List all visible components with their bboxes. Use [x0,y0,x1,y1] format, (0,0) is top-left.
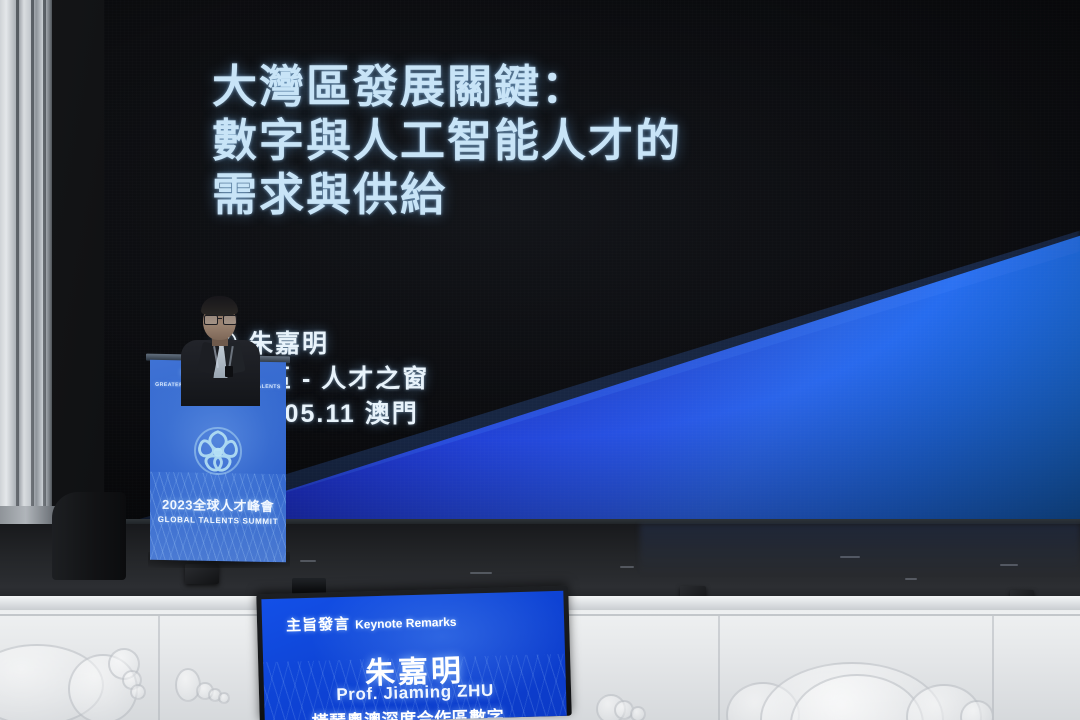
architectural-pilaster [0,0,52,516]
podium-footer: 2023全球人才峰會 GLOBAL TALENTS SUMMIT [150,494,286,527]
speaker-hair [201,296,238,316]
floor-highlight [300,560,316,562]
talents-summit-knot-icon [186,418,250,483]
monitor-screen: 主旨發言Keynote Remarks 朱嘉明 Prof. Jiaming ZH… [261,591,566,720]
wall-panel-divider [158,616,160,720]
podium-footer-cn: 2023全球人才峰會 [150,494,286,516]
wall-panel-divider [992,616,994,720]
floor-highlight [905,578,917,580]
slide-title-line-3: 需求與供給 [212,169,447,220]
eyeglass-lens-left [204,315,218,325]
eyeglass-lens-right [223,315,237,325]
slide-title-line-2: 數字與人工智能人才的 [212,115,682,166]
conference-stage-photo: 大灣區發展關鍵： 數字與人工智能人才的 需求與供給 Ⓒ 朱嘉明 大灣區 - 人才… [0,0,1080,720]
pilaster-groove [16,0,19,516]
wall-relief-circle [130,684,146,700]
eyeglasses-icon [204,315,235,323]
floor-highlight [840,556,860,558]
wall-relief-circle [630,706,646,720]
speaker-badge [225,366,233,377]
floor-blue-reflection [640,524,1080,576]
slide-title-line-1: 大灣區發展關鍵： [212,61,588,112]
slide-title: 大灣區發展關鍵： 數字與人工智能人才的 需求與供給 [212,60,682,222]
floor-highlight [620,566,634,568]
stage-equipment-silhouette [52,492,126,580]
wall-panel-divider [718,616,720,720]
pilaster-groove [31,0,34,516]
floor-highlight [1000,564,1018,566]
wall-relief-circle [960,700,994,720]
eyeglass-bridge [217,318,222,319]
monitor-session-en: Keynote Remarks [355,615,457,632]
floor-highlight [470,572,492,574]
confidence-monitor: 主旨發言Keynote Remarks 朱嘉明 Prof. Jiaming ZH… [256,586,572,720]
pilaster-groove [43,0,46,516]
wall-relief-circle [218,692,230,704]
monitor-session-cn: 主旨發言 [286,616,350,635]
